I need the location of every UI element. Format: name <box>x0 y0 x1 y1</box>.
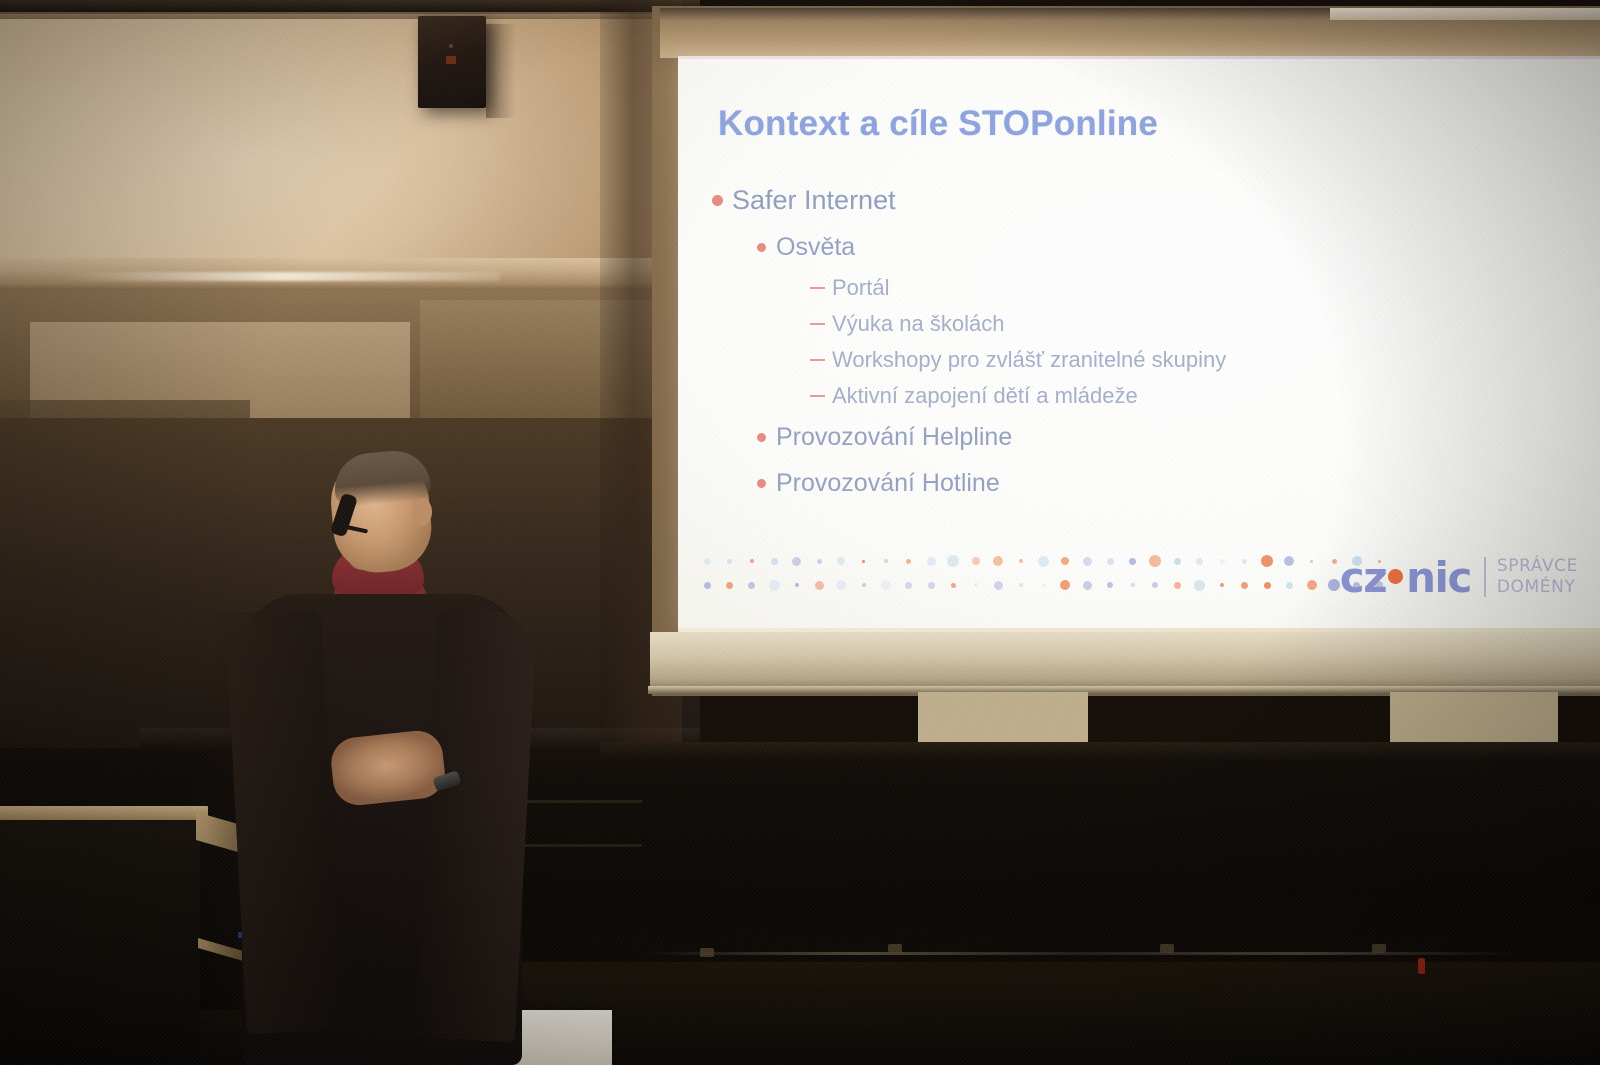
decor-dot <box>1061 557 1069 565</box>
decor-dot <box>704 558 711 565</box>
decor-dot <box>1174 558 1181 565</box>
lectern-top-edge <box>0 806 208 820</box>
red-marker-icon <box>1418 958 1425 974</box>
cable-stand <box>1160 944 1174 953</box>
bullet-text: Provozování Hotline <box>776 469 1000 498</box>
decor-dot <box>972 557 980 565</box>
decor-dot <box>1307 580 1317 590</box>
slide-top-edge <box>678 56 1600 59</box>
logo-word-nic: nic <box>1406 553 1471 602</box>
bullet-item: Provozování Helpline <box>678 414 1600 460</box>
bullet-text: Portál <box>832 275 889 301</box>
wall-light-sheen <box>0 8 700 278</box>
decor-dot <box>1286 582 1293 589</box>
decor-dot <box>974 583 978 587</box>
decor-dot <box>771 558 778 565</box>
decor-dot <box>1284 556 1294 566</box>
cznic-logo: cz nic SPRÁVCE DOMÉNY <box>1340 550 1578 604</box>
decor-dot <box>947 555 959 567</box>
decor-dot <box>1129 558 1136 565</box>
decor-dot <box>750 559 754 563</box>
bullet-item: Safer Internet <box>678 176 1600 224</box>
bullet-item: Portál <box>678 270 1600 306</box>
ledge-highlight <box>60 272 500 281</box>
decor-dot <box>1194 580 1205 591</box>
bullet-marker-dot-icon <box>746 433 776 442</box>
bullet-marker-dash-icon <box>802 395 832 397</box>
acoustic-panel <box>918 692 1088 744</box>
bullet-text: Provozování Helpline <box>776 423 1012 452</box>
floor-cable <box>640 952 1520 955</box>
logo-tagline: SPRÁVCE DOMÉNY <box>1497 556 1578 598</box>
speaker-shadow <box>486 24 516 118</box>
decor-dot <box>1107 558 1114 565</box>
decor-dot <box>836 580 846 590</box>
decor-dot <box>1242 559 1247 564</box>
decor-dot <box>1220 559 1225 564</box>
slide-decorative-dots <box>696 550 1386 596</box>
decor-dot <box>862 560 865 563</box>
decor-dot <box>704 582 711 589</box>
decor-dot <box>1060 580 1070 590</box>
bullet-item: Provozování Hotline <box>678 460 1600 506</box>
decor-dot <box>1196 558 1203 565</box>
logo-divider <box>1484 557 1486 597</box>
decor-dot <box>837 557 845 565</box>
decor-dot <box>1261 555 1273 567</box>
decor-dot <box>727 559 732 564</box>
bullet-marker-dot-icon <box>746 479 776 488</box>
decor-dot <box>928 582 935 589</box>
speaker-led-icon <box>446 56 456 64</box>
presentation-slide: Kontext a cíle STOPonline Safer Internet… <box>678 56 1600 632</box>
decor-dot <box>1264 582 1271 589</box>
logo-tagline-line2: DOMÉNY <box>1497 577 1578 598</box>
decor-dot <box>1220 583 1224 587</box>
decor-dot <box>815 581 824 590</box>
decor-dot <box>881 580 891 590</box>
bullet-text: Workshopy pro zvlášť zranitelné skupiny <box>832 347 1226 373</box>
bullet-text: Výuka na školách <box>832 311 1004 337</box>
presenter-hands <box>329 728 447 807</box>
bullet-marker-dot-icon <box>746 243 776 252</box>
decor-dot <box>1019 583 1023 587</box>
presenter <box>236 452 536 1065</box>
decor-dot <box>1107 582 1113 588</box>
bullet-marker-dash-icon <box>802 287 832 289</box>
bullet-marker-dash-icon <box>802 323 832 325</box>
bullet-marker-dash-icon <box>802 359 832 361</box>
ceiling-trim <box>0 12 700 19</box>
decor-dot <box>1038 556 1049 567</box>
decor-dot <box>748 582 755 589</box>
decor-dot <box>1019 559 1023 563</box>
decor-dot <box>795 583 799 587</box>
screen-top-highlight <box>1330 8 1600 20</box>
screenshot-root: Kontext a cíle STOPonline Safer Internet… <box>0 0 1600 1065</box>
lectern <box>0 812 200 1065</box>
decor-dot <box>884 559 888 563</box>
decor-dot <box>1149 555 1161 567</box>
bullet-text: Aktivní zapojení dětí a mládeže <box>832 383 1138 409</box>
decor-dot <box>1152 582 1158 588</box>
decor-dot <box>993 556 1003 566</box>
wall-speaker-icon <box>418 16 486 108</box>
slide-title: Kontext a cíle STOPonline <box>718 104 1158 144</box>
logo-dot-icon <box>1388 569 1403 584</box>
decor-dot <box>1083 557 1092 566</box>
decor-dot <box>927 557 936 566</box>
acoustic-panel <box>1390 692 1558 744</box>
bullet-item: Výuka na školách <box>678 306 1600 342</box>
decor-dot <box>1328 579 1340 591</box>
bullet-text: Osvěta <box>776 233 855 262</box>
decor-dot <box>1131 583 1135 587</box>
decor-dot <box>726 582 733 589</box>
screen-bottom-bar <box>650 632 1600 690</box>
decor-dot <box>906 559 911 564</box>
bullet-text: Safer Internet <box>732 185 896 216</box>
cable-stand <box>1372 944 1386 953</box>
bullet-item: Workshopy pro zvlášť zranitelné skupiny <box>678 342 1600 378</box>
decor-dot <box>1241 582 1248 589</box>
slide-bullet-list: Safer Internet Osvěta Portál Výuka na šk… <box>678 176 1600 506</box>
decor-dot <box>994 581 1003 590</box>
logo-tagline-line1: SPRÁVCE <box>1497 556 1578 577</box>
decor-dot <box>817 559 822 564</box>
speaker-screw <box>449 44 453 48</box>
decor-dot <box>1332 559 1337 564</box>
presenter-ear <box>412 498 432 526</box>
bullet-item: Osvěta <box>678 224 1600 270</box>
cable-stand <box>700 948 714 957</box>
decor-dot <box>905 582 912 589</box>
decor-dot <box>1174 582 1181 589</box>
logo-word-cz: cz <box>1340 553 1386 602</box>
decor-dot <box>1042 584 1045 587</box>
decor-dot <box>792 557 801 566</box>
bullet-item: Aktivní zapojení dětí a mládeže <box>678 378 1600 414</box>
decor-dot <box>1083 581 1092 590</box>
cable-stand <box>888 944 902 953</box>
decor-dot <box>769 580 780 591</box>
decor-dot <box>951 583 956 588</box>
bullet-marker-dot-icon <box>702 195 732 206</box>
decor-dot <box>862 583 866 587</box>
decor-dot <box>1310 560 1313 563</box>
